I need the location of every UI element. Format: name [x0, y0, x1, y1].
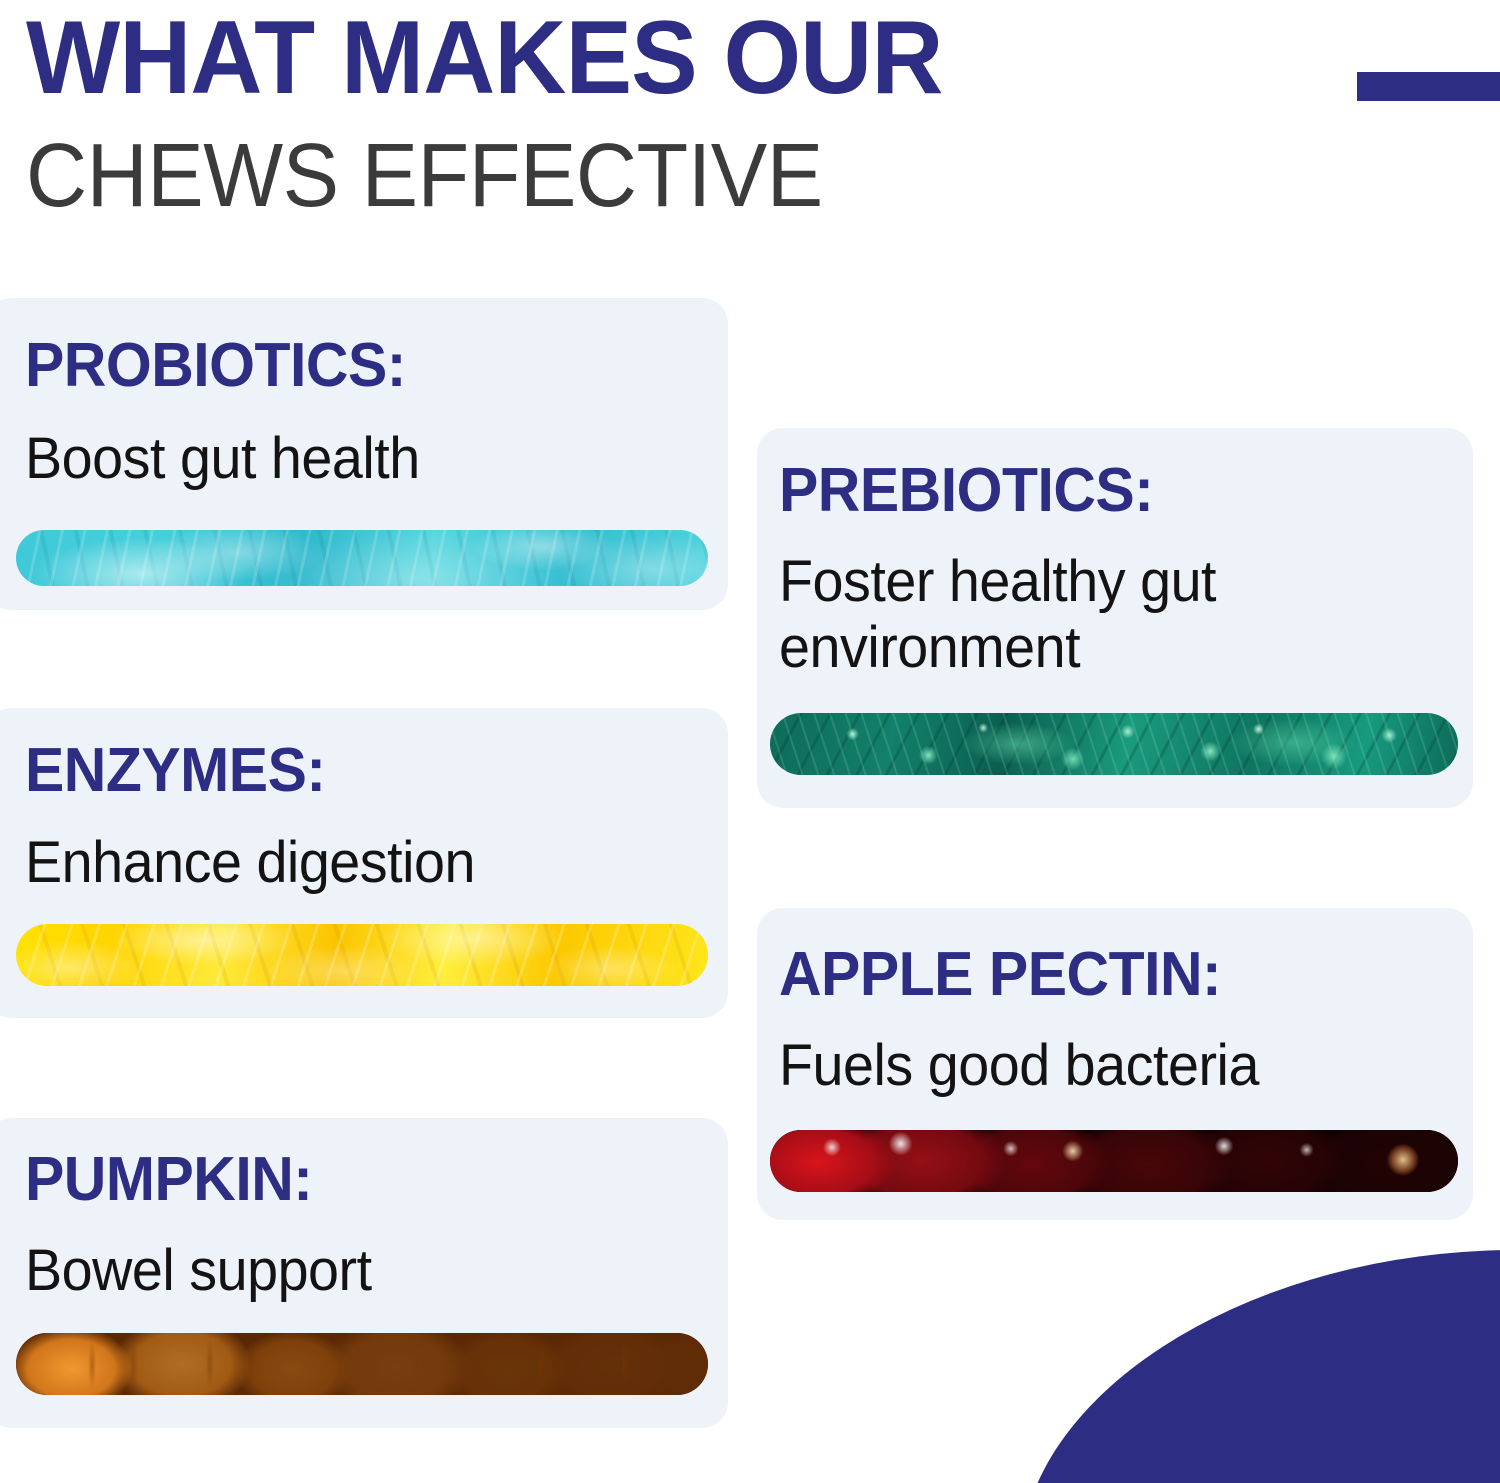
headline-dash-accent: [1357, 72, 1500, 101]
card-apple-pectin-swatch: [770, 1130, 1458, 1192]
card-enzymes: ENZYMES: Enhance digestion: [0, 708, 728, 1018]
card-pumpkin-swatch: [16, 1333, 708, 1395]
yellow-marble-swatch: [16, 924, 708, 986]
card-enzymes-swatch: [16, 924, 708, 986]
card-prebiotics-title: PREBIOTICS:: [779, 458, 1153, 524]
card-apple-pectin-description: Fuels good bacteria: [779, 1033, 1259, 1099]
card-enzymes-title: ENZYMES:: [25, 738, 326, 804]
headline-block: WHAT MAKES OUR CHEWS EFFECTIVE: [26, 0, 1486, 224]
red-apples-photo-swatch: [770, 1130, 1458, 1192]
card-pumpkin: PUMPKIN: Bowel support: [0, 1118, 728, 1428]
card-prebiotics-swatch: [770, 713, 1458, 775]
card-pumpkin-description: Bowel support: [25, 1238, 372, 1304]
card-enzymes-description: Enhance digestion: [25, 830, 475, 896]
card-probiotics-title: PROBIOTICS:: [25, 333, 406, 399]
headline-line-1: WHAT MAKES OUR: [26, 4, 1428, 112]
orange-pumpkins-photo-swatch: [16, 1333, 708, 1395]
card-apple-pectin-title: APPLE PECTIN:: [779, 942, 1221, 1008]
card-probiotics-description: Boost gut health: [25, 426, 420, 492]
card-probiotics: PROBIOTICS: Boost gut health: [0, 298, 728, 610]
card-prebiotics-description: Foster healthy gut environment: [779, 549, 1374, 681]
card-apple-pectin: APPLE PECTIN: Fuels good bacteria: [757, 908, 1473, 1220]
card-prebiotics: PREBIOTICS: Foster healthy gut environme…: [757, 428, 1473, 808]
card-probiotics-swatch: [16, 530, 708, 586]
turquoise-marble-swatch: [16, 530, 708, 586]
navy-corner-blob: [992, 1207, 1500, 1483]
green-marble-swatch: [770, 713, 1458, 775]
card-pumpkin-title: PUMPKIN:: [25, 1147, 312, 1213]
headline-line-2: CHEWS EFFECTIVE: [26, 128, 1398, 224]
infographic-canvas: WHAT MAKES OUR CHEWS EFFECTIVE PROBIOTIC…: [0, 0, 1500, 1483]
